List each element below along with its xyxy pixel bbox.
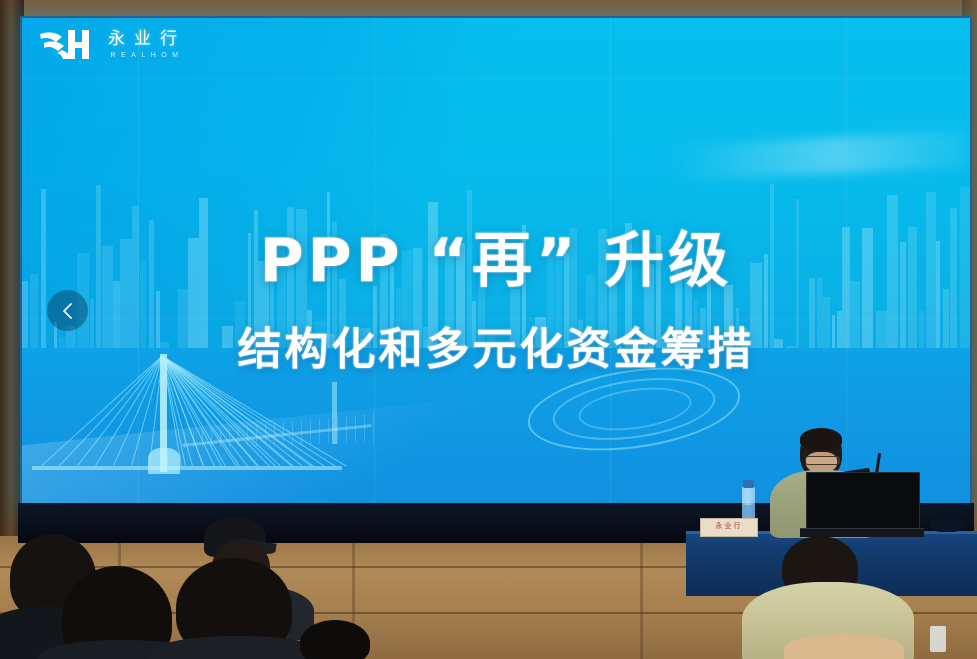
- chevron-left-icon: [60, 302, 76, 320]
- led-tile-seam: [22, 78, 970, 79]
- water-bottle: [930, 626, 946, 652]
- bridge-deck: [32, 466, 342, 470]
- desk-object: [930, 518, 964, 532]
- screenshot-root: 永业行 REALHOM PPP “再” 升级 结构化和多元化资金筹措: [0, 0, 977, 659]
- bottle-label: [742, 505, 755, 518]
- slide-subtitle: 结构化和多元化资金筹措: [22, 313, 970, 377]
- presenter-glasses: [805, 456, 840, 465]
- brand-logo: 永业行 REALHOM: [38, 28, 186, 62]
- laptop-screen: [806, 472, 920, 532]
- attendee-head: [300, 620, 370, 659]
- slide-title: PPP “再” 升级: [22, 212, 970, 299]
- attendee-chair-back: [784, 634, 904, 659]
- brand-name-block: 永业行 REALHOM: [108, 31, 186, 59]
- yh-monogram-icon: [38, 28, 92, 62]
- brand-name-latin: REALHOM: [110, 52, 183, 59]
- wall-left-edge: [0, 0, 24, 545]
- bridge-pylon-base: [148, 448, 180, 474]
- name-placard: 永业行: [700, 518, 758, 537]
- brand-name-chinese: 永业行: [108, 31, 186, 48]
- wall-plank-joint: [640, 536, 643, 659]
- bottle-cap: [743, 480, 754, 488]
- name-placard-text: 永业行: [701, 519, 757, 533]
- previous-slide-button[interactable]: [47, 290, 88, 331]
- presenter-hair: [800, 428, 842, 450]
